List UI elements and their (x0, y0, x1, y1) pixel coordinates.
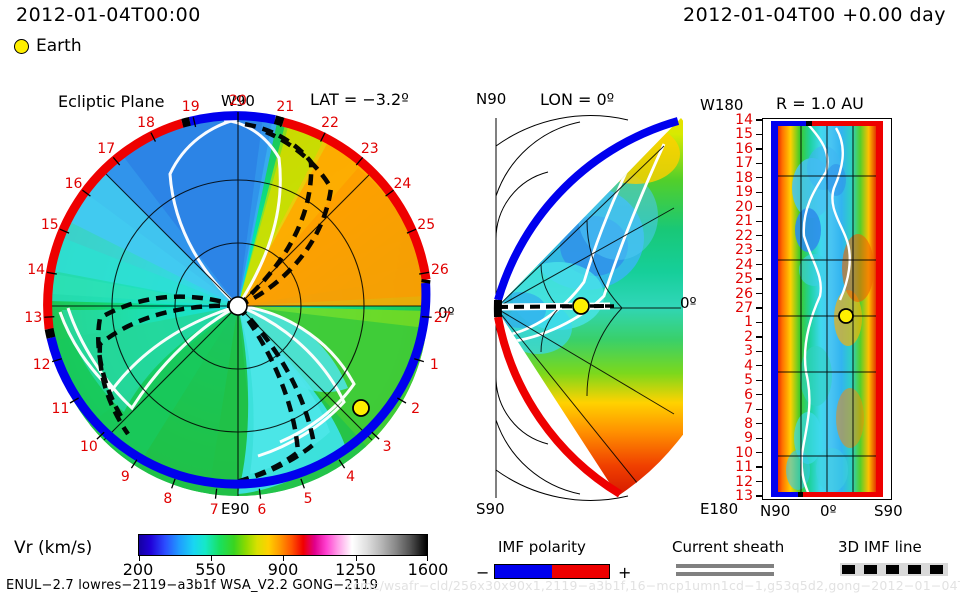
time-longitude-tick-mark (756, 336, 762, 337)
ecliptic-day-label: 13 (24, 311, 42, 325)
time-longitude-tick-mark (756, 409, 762, 410)
timestamp-right: 2012-01-04T00 +0.00 day (683, 4, 946, 26)
time-longitude-tick-mark (756, 192, 762, 193)
time-longitude-day-label: 16 (735, 142, 753, 156)
time-longitude-tick-mark (756, 438, 762, 439)
imf-negative-swatch (495, 565, 552, 578)
time-longitude-day-label: 20 (735, 200, 753, 214)
time-longitude-tick-mark (756, 351, 762, 352)
time-longitude-tick-mark (756, 148, 762, 149)
timestamp-left: 2012-01-04T00:00 (16, 4, 201, 26)
time-longitude-tick-mark (756, 163, 762, 164)
colorbar-tick-label: 1250 (335, 560, 376, 579)
ecliptic-day-label: 20 (229, 94, 247, 108)
time-longitude-tick-mark (756, 452, 762, 453)
ecliptic-day-label: 21 (276, 100, 294, 114)
ecliptic-day-label: 8 (163, 492, 172, 506)
colorbar-tick-label: 550 (195, 560, 226, 579)
ecliptic-day-label: 9 (121, 470, 130, 484)
time-longitude-day-label: 24 (735, 258, 753, 272)
time-longitude-day-label: 22 (735, 229, 753, 243)
time-longitude-tick-mark (756, 466, 762, 467)
panel-meridional-plane: N90 LON = 0º S90 0º (468, 96, 683, 516)
imf-3d-line-title: 3D IMF line (838, 538, 922, 556)
time-longitude-tick-mark (756, 293, 762, 294)
current-sheath-title: Current sheath (672, 538, 784, 556)
time-longitude-day-label: 10 (735, 446, 753, 460)
current-sheath-line-lower (676, 572, 774, 576)
meridional-imf-line (498, 306, 620, 307)
time-longitude-tick-mark (756, 235, 762, 236)
time-longitude-day-label: 18 (735, 171, 753, 185)
time-longitude-day-label: 14 (735, 113, 753, 127)
earth-legend-label: Earth (36, 36, 82, 56)
time-longitude-day-label: 26 (735, 287, 753, 301)
meridional-title: LON = 0º (540, 90, 614, 109)
time-longitude-tick-mark (756, 495, 762, 496)
earth-icon (14, 39, 29, 54)
ecliptic-day-label: 16 (65, 177, 83, 191)
colorbar-label: Vr (km/s) (14, 538, 92, 558)
ecliptic-day-labels: 2021222324252627123456789101112131415161… (28, 96, 448, 516)
time-longitude-xlabel-2: S90 (874, 502, 903, 520)
time-longitude-day-label: 9 (744, 431, 753, 445)
ecliptic-day-label: 19 (182, 100, 200, 114)
ecliptic-day-label: 18 (137, 116, 155, 130)
time-longitude-tick-mark (756, 322, 762, 323)
ecliptic-day-label: 6 (257, 503, 266, 517)
ecliptic-day-label: 7 (210, 503, 219, 517)
colorbar-tick-label: 1600 (408, 560, 449, 579)
ecliptic-day-label: 24 (394, 177, 412, 191)
current-sheath-line-upper (676, 564, 774, 568)
time-longitude-day-label: 27 (735, 301, 753, 315)
time-longitude-tick-mark (756, 481, 762, 482)
time-longitude-title: R = 1.0 AU (776, 94, 864, 113)
time-longitude-tick-mark (756, 134, 762, 135)
time-longitude-xlabel-0: N90 (760, 502, 790, 520)
time-longitude-day-label: 7 (744, 402, 753, 416)
time-longitude-day-label: 25 (735, 272, 753, 286)
ecliptic-day-label: 2 (411, 402, 420, 416)
ecliptic-day-label: 17 (97, 142, 115, 156)
time-longitude-day-label: 17 (735, 156, 753, 170)
ecliptic-day-label: 25 (417, 218, 435, 232)
time-longitude-tick-mark (756, 380, 762, 381)
ecliptic-day-label: 22 (321, 116, 339, 130)
time-longitude-xlabel-1: 0º (820, 502, 837, 520)
imf-polarity-bar (494, 564, 610, 579)
time-longitude-tick-mark (756, 423, 762, 424)
imf-3d-line-sample (842, 565, 946, 574)
ecliptic-day-label: 1 (430, 358, 439, 372)
time-longitude-day-label: 4 (744, 359, 753, 373)
time-longitude-day-label: 3 (744, 344, 753, 358)
time-longitude-day-label: 11 (735, 460, 753, 474)
meridional-equator-label: 0º (680, 294, 697, 312)
time-longitude-day-label: 5 (744, 373, 753, 387)
time-longitude-tick-mark (756, 365, 762, 366)
meridional-south-label: S90 (476, 500, 505, 518)
time-longitude-ylabel-top: W180 (700, 96, 743, 114)
time-longitude-frame (762, 118, 892, 500)
time-longitude-ylabel-bottom: E180 (700, 500, 738, 518)
imf-positive-swatch (552, 565, 609, 578)
time-longitude-day-label: 21 (735, 214, 753, 228)
ecliptic-day-label: 14 (27, 263, 45, 277)
time-longitude-tick-mark (756, 206, 762, 207)
panel-time-longitude: 1415161718192021222324252627123456789101… (762, 118, 892, 500)
ecliptic-day-label: 27 (434, 311, 452, 325)
time-longitude-day-label: 6 (744, 388, 753, 402)
colorbar-tick-label: 900 (268, 560, 299, 579)
meridional-north-label: N90 (476, 90, 506, 108)
time-longitude-tick-mark (756, 221, 762, 222)
ecliptic-day-label: 26 (431, 263, 449, 277)
time-longitude-day-label: 1 (744, 315, 753, 329)
time-longitude-day-label: 19 (735, 185, 753, 199)
time-longitude-day-label: 8 (744, 417, 753, 431)
ecliptic-day-label: 5 (304, 492, 313, 506)
colorbar-tick-label: 200 (123, 560, 154, 579)
earth-legend: Earth (14, 36, 82, 56)
ecliptic-day-label: 23 (361, 142, 379, 156)
time-longitude-day-ticks: 1415161718192021222324252627123456789101… (714, 118, 762, 500)
ecliptic-day-label: 10 (80, 440, 98, 454)
colorbar-ticks: 20055090012501600 (138, 534, 428, 580)
time-longitude-tick-mark (756, 264, 762, 265)
time-longitude-tick-mark (756, 394, 762, 395)
footer-watermark: ccmc/wsafr−cld/256x30x90x1,2119−a3b1f,16… (346, 578, 960, 593)
time-longitude-tick-mark (756, 119, 762, 120)
time-longitude-day-label: 15 (735, 127, 753, 141)
time-longitude-day-label: 12 (735, 475, 753, 489)
time-longitude-day-label: 23 (735, 243, 753, 257)
ecliptic-day-label: 12 (33, 358, 51, 372)
imf-polarity-title: IMF polarity (498, 538, 586, 556)
panel-ecliptic-plane: Ecliptic Plane W90 E90 0º LAT = −3.2º 20… (28, 96, 448, 516)
ecliptic-day-label: 11 (52, 402, 70, 416)
time-longitude-tick-mark (756, 177, 762, 178)
ecliptic-day-label: 3 (383, 440, 392, 454)
ecliptic-day-label: 4 (346, 470, 355, 484)
footer-run-id: ENUL−2.7 lowres−2119−a3b1f WSA_V2.2 GONG… (6, 578, 378, 593)
time-longitude-day-label: 2 (744, 330, 753, 344)
time-longitude-tick-mark (756, 278, 762, 279)
ecliptic-day-label: 15 (41, 218, 59, 232)
time-longitude-tick-mark (756, 250, 762, 251)
meridional-plot (468, 96, 683, 516)
earth-marker-meridional (573, 298, 589, 314)
time-longitude-tick-mark (756, 307, 762, 308)
